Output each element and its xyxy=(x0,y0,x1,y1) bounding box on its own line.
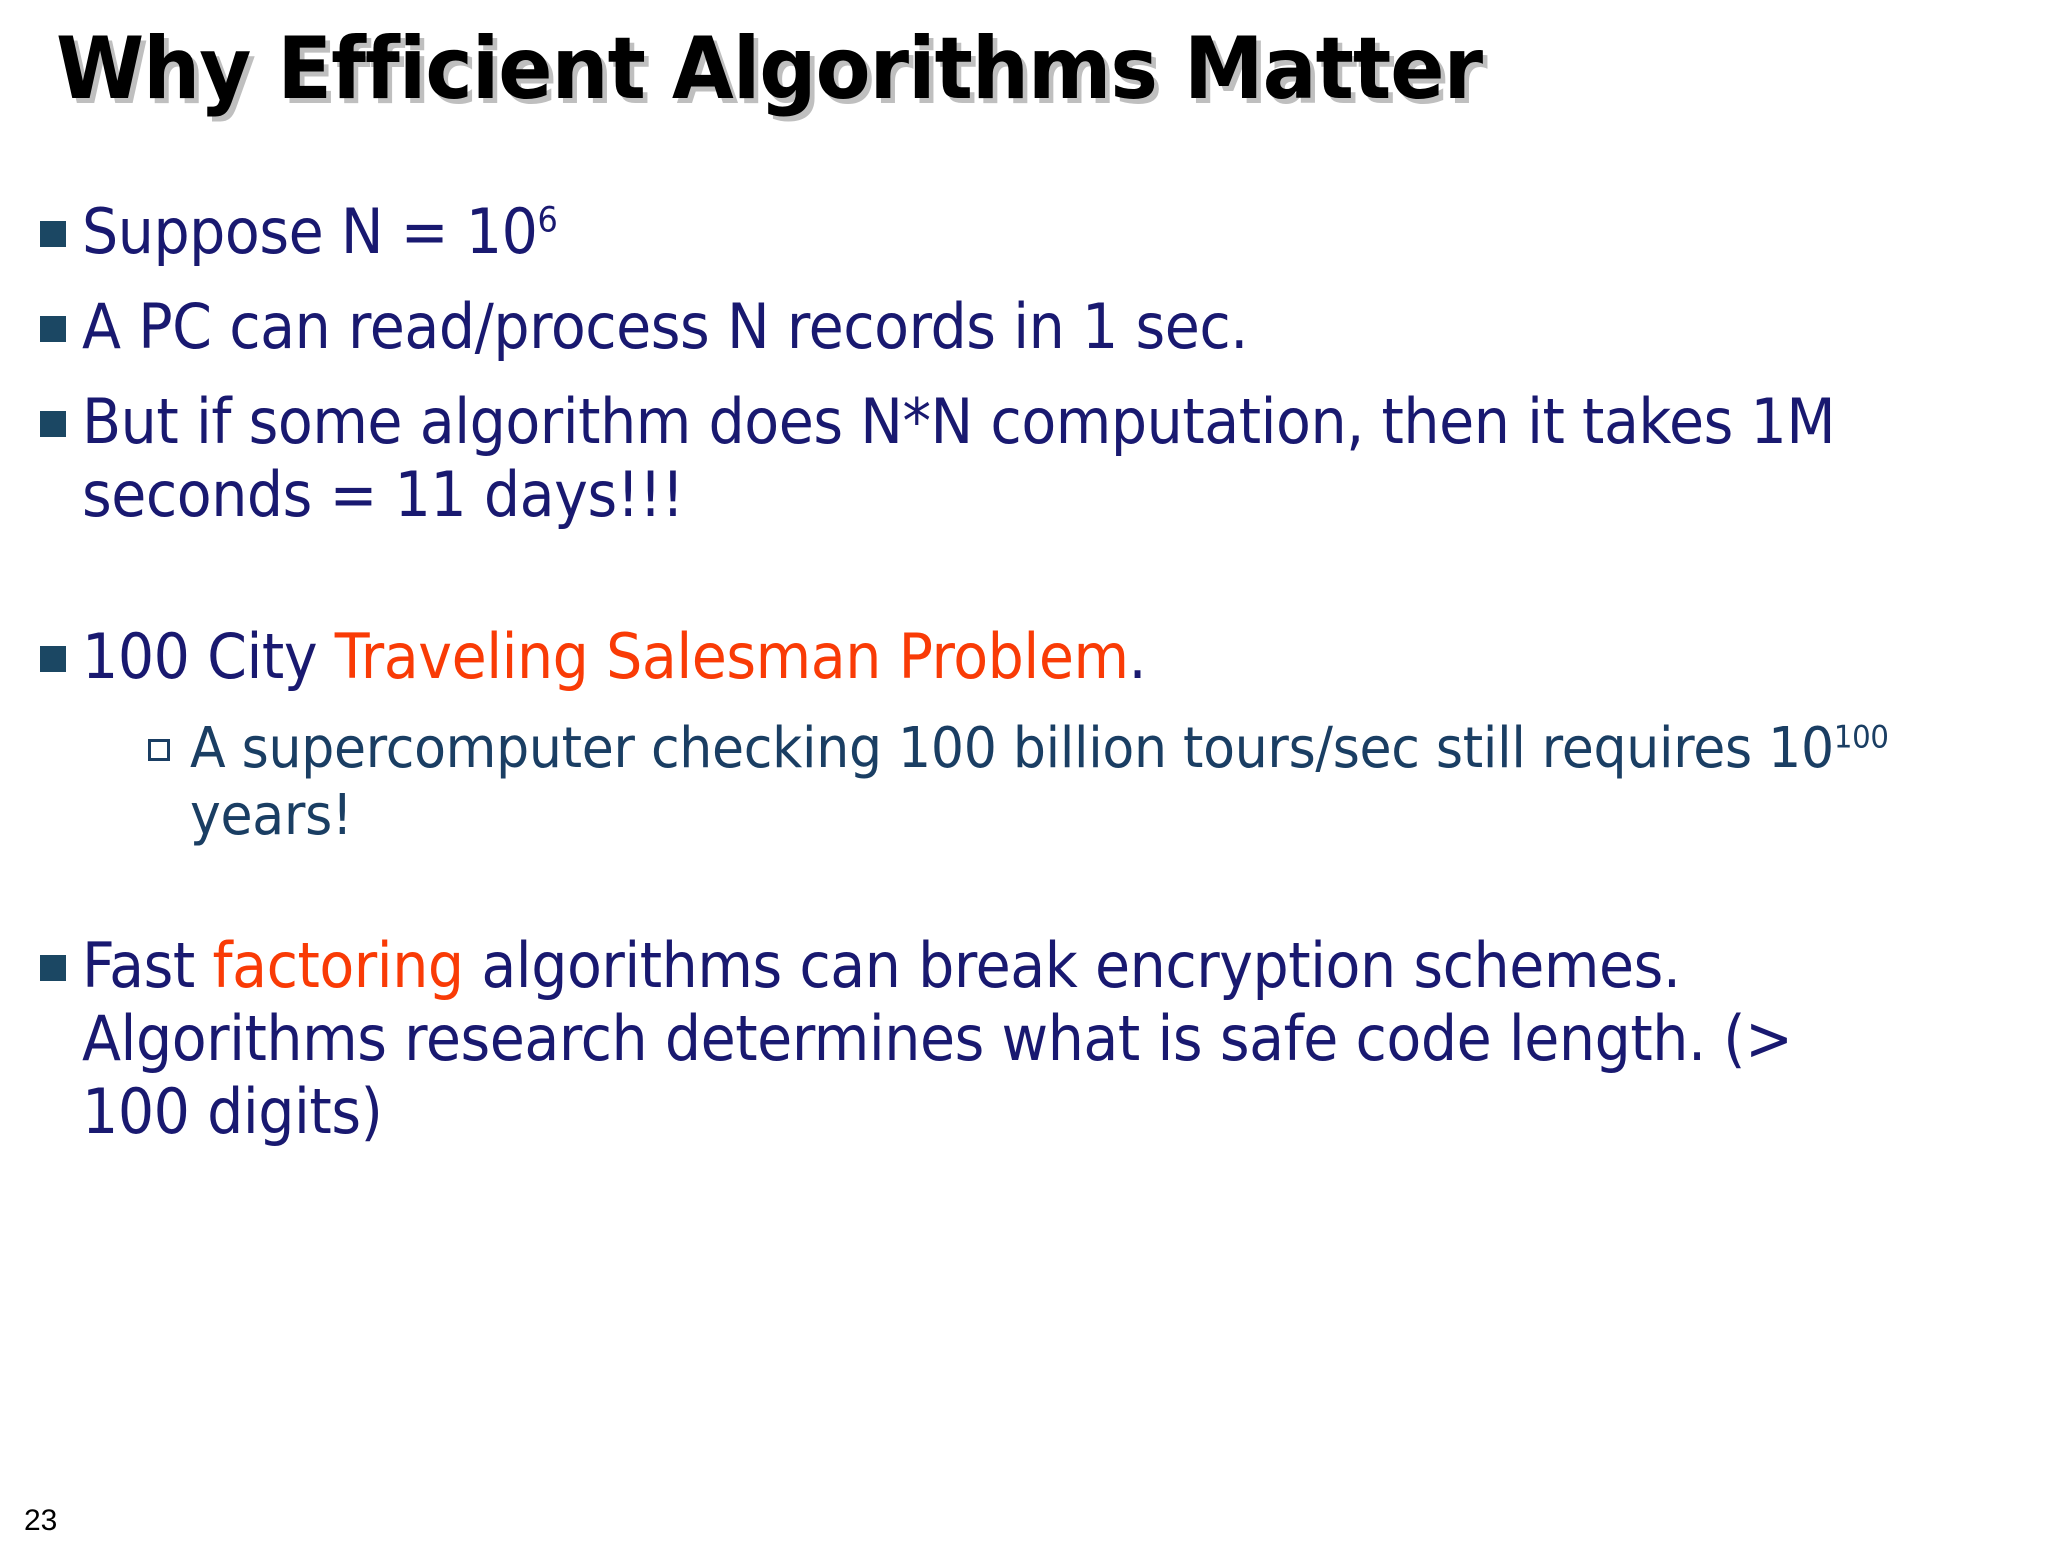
filled-square-bullet-icon xyxy=(40,221,66,247)
blank-line-spacer xyxy=(40,871,2020,929)
bullet-text: A PC can read/process N records in 1 sec… xyxy=(82,290,1865,363)
bullet-item-pc-speed: A PC can read/process N records in 1 sec… xyxy=(40,290,2020,363)
bullet-text-accent: factoring xyxy=(212,929,463,1002)
page-number: 23 xyxy=(24,1504,57,1538)
sub-bullet-text-suffix: years! xyxy=(190,783,353,848)
bullet-text: But if some algorithm does N*N computati… xyxy=(82,385,1865,531)
bullet-item-quadratic-cost: But if some algorithm does N*N computati… xyxy=(40,385,2020,531)
sub-bullet-item-supercomputer: A supercomputer checking 100 billion tou… xyxy=(148,715,2020,849)
filled-square-bullet-icon xyxy=(40,955,66,981)
slide-canvas: Why Efficient Algorithms Matter Suppose … xyxy=(0,0,2048,1560)
page-title: Why Efficient Algorithms Matter xyxy=(56,24,1823,114)
bullet-text-prefix: 100 City xyxy=(82,620,335,693)
sub-bullet-text: A supercomputer checking 100 billion tou… xyxy=(190,715,1892,849)
bullet-text-suffix: . xyxy=(1129,620,1147,693)
bullet-text: Fast factoring algorithms can break encr… xyxy=(82,929,1865,1148)
filled-square-bullet-icon xyxy=(40,646,66,672)
bullet-item-factoring: Fast factoring algorithms can break encr… xyxy=(40,929,2020,1148)
blank-line-spacer xyxy=(40,554,2020,620)
bullet-text-prefix: Suppose N = 10 xyxy=(82,195,537,268)
sub-bullet-text-superscript: 100 xyxy=(1834,719,1889,755)
bullet-text: 100 City Traveling Salesman Problem. xyxy=(82,620,1865,693)
bullet-item-suppose-n: Suppose N = 106 xyxy=(40,195,2020,268)
filled-square-bullet-icon xyxy=(40,316,66,342)
sub-bullet-text-prefix: A supercomputer checking 100 billion tou… xyxy=(190,716,1834,781)
filled-square-bullet-icon xyxy=(40,411,66,437)
bullet-item-tsp: 100 City Traveling Salesman Problem. xyxy=(40,620,2020,693)
bullet-text-prefix: Fast xyxy=(82,929,212,1002)
hollow-square-bullet-icon xyxy=(148,739,170,761)
bullet-text-accent: Traveling Salesman Problem xyxy=(335,620,1129,693)
bullet-text-superscript: 6 xyxy=(537,200,557,240)
slide-body: Suppose N = 106 A PC can read/process N … xyxy=(40,195,2020,1171)
bullet-text: Suppose N = 106 xyxy=(82,195,1865,268)
